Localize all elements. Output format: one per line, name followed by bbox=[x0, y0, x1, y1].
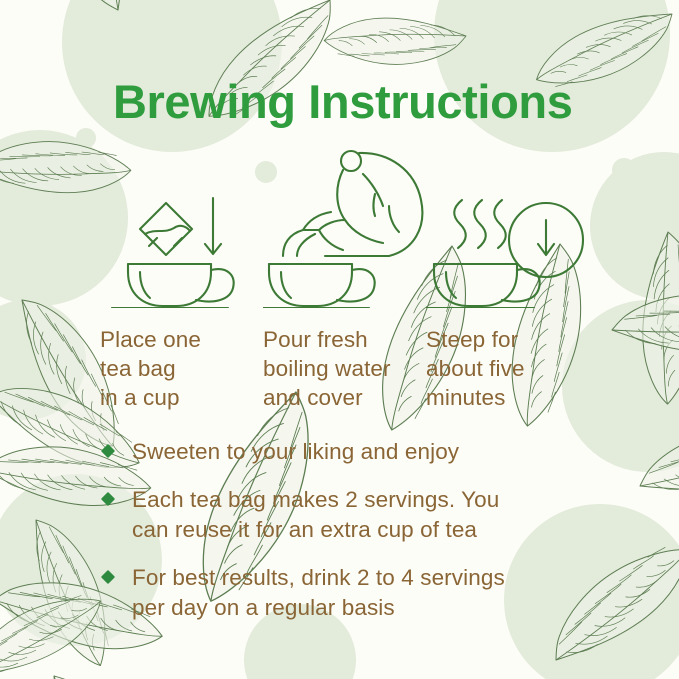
kettle-pouring-into-cup-icon bbox=[263, 148, 426, 308]
diamond-bullet-icon bbox=[101, 444, 115, 458]
step-caption: Pour fresh boiling water and cover bbox=[263, 325, 426, 412]
step-item: Pour fresh boiling water and cover bbox=[263, 148, 426, 412]
page-title: Brewing Instructions bbox=[113, 78, 572, 125]
step-caption: Place one tea bag in a cup bbox=[100, 325, 263, 412]
list-item: Each tea bag makes 2 servings. You can r… bbox=[103, 485, 603, 545]
tip-text: Each tea bag makes 2 servings. You can r… bbox=[132, 485, 499, 545]
tip-text: Sweeten to your liking and enjoy bbox=[132, 437, 459, 467]
steaming-cup-with-timer-icon bbox=[426, 148, 589, 308]
diamond-bullet-icon bbox=[101, 570, 115, 584]
step-item: Place one tea bag in a cup bbox=[100, 148, 263, 412]
step-item: Steep for about five minutes bbox=[426, 148, 589, 412]
diamond-bullet-icon bbox=[101, 492, 115, 506]
teabag-into-cup-icon bbox=[100, 148, 263, 308]
brewing-instructions-poster: Brewing Instructions bbox=[0, 0, 679, 679]
list-item: For best results, drink 2 to 4 servings … bbox=[103, 563, 603, 623]
tip-text: For best results, drink 2 to 4 servings … bbox=[132, 563, 505, 623]
tips-list: Sweeten to your liking and enjoy Each te… bbox=[103, 437, 603, 641]
list-item: Sweeten to your liking and enjoy bbox=[103, 437, 603, 467]
step-caption: Steep for about five minutes bbox=[426, 325, 589, 412]
steps-row: Place one tea bag in a cup bbox=[100, 148, 590, 412]
